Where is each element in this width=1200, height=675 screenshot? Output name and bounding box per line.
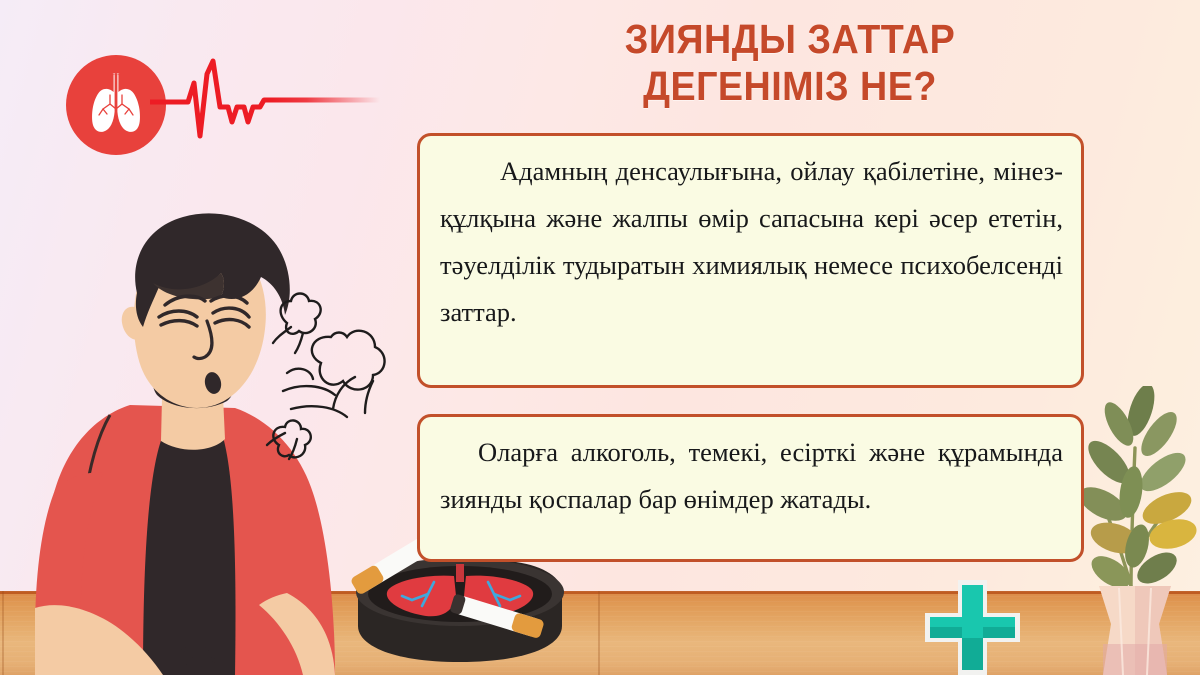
definition-text-box: Адамның денсаулығына, ойлау қабілетіне, …	[417, 133, 1084, 388]
definition-paragraph: Адамның денсаулығына, ойлау қабілетіне, …	[440, 148, 1063, 336]
heartbeat-ecg-icon	[150, 52, 380, 157]
examples-paragraph: Оларға алкоголь, темекі, есірткі және құ…	[440, 429, 1063, 523]
floor-seam	[598, 591, 600, 675]
page-title: ЗИЯНДЫ ЗАТТАР ДЕГЕНІМІЗ НЕ?	[468, 16, 1112, 110]
slide-canvas: ЗИЯНДЫ ЗАТТАР ДЕГЕНІМІЗ НЕ? Адамның денс…	[0, 0, 1200, 675]
medical-cross-icon	[925, 580, 1020, 675]
floor-seam	[2, 591, 4, 675]
lungs-icon	[83, 71, 149, 139]
examples-text-box: Оларға алкоголь, темекі, есірткі және құ…	[417, 414, 1084, 562]
